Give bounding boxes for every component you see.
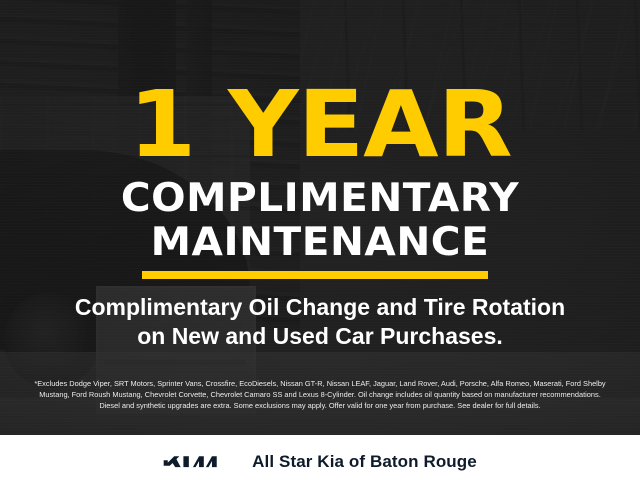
yellow-divider-rule <box>142 271 488 279</box>
offer-description-line-1: Complimentary Oil Change and Tire Rotati… <box>0 293 640 322</box>
headline-maintenance: MAINTENANCE <box>0 222 640 264</box>
disclaimer-line-2: Mustang, Ford Roush Mustang, Chevrolet C… <box>16 389 624 400</box>
kia-logo <box>163 452 231 472</box>
dealer-name: All Star Kia of Baton Rouge <box>252 452 477 472</box>
promo-banner: 1 YEAR COMPLIMENTARY MAINTENANCE Complim… <box>0 0 640 488</box>
headline-year: 1 YEAR <box>0 79 640 171</box>
banner-content: 1 YEAR COMPLIMENTARY MAINTENANCE Complim… <box>0 0 640 488</box>
headline-complimentary: COMPLIMENTARY <box>0 178 640 220</box>
disclaimer-text: *Excludes Dodge Viper, SRT Motors, Sprin… <box>16 378 624 411</box>
offer-description-line-2: on New and Used Car Purchases. <box>0 322 640 351</box>
disclaimer-line-3: Diesel and synthetic upgrades are extra.… <box>16 400 624 411</box>
dealer-footer-bar: All Star Kia of Baton Rouge <box>0 435 640 488</box>
disclaimer-line-1: *Excludes Dodge Viper, SRT Motors, Sprin… <box>16 378 624 389</box>
